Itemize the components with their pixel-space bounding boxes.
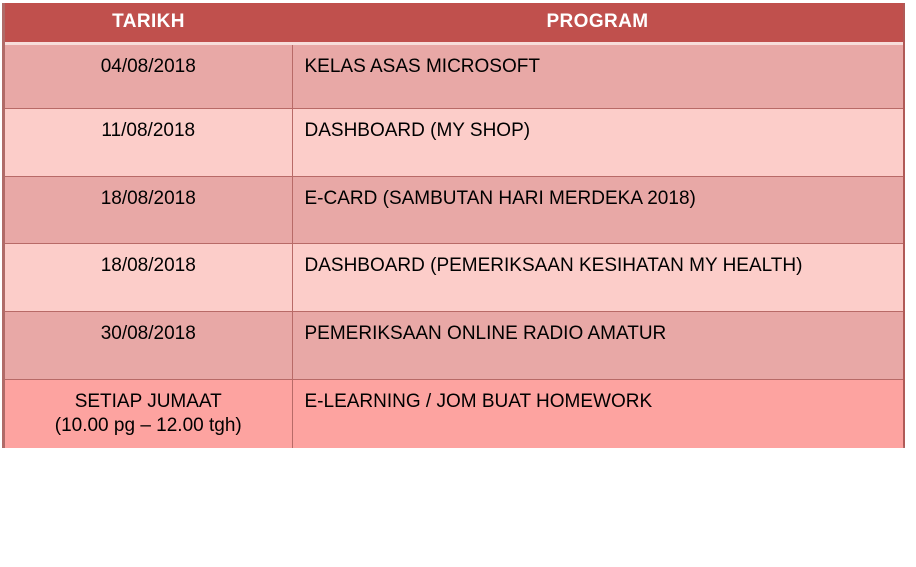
cell-program: E-CARD (SAMBUTAN HARI MERDEKA 2018) [292,176,903,243]
table-row: 18/08/2018 DASHBOARD (PEMERIKSAAN KESIHA… [5,243,903,311]
table-header-row: TARIKH PROGRAM [5,3,903,43]
program-schedule-table: TARIKH PROGRAM 04/08/2018 KELAS ASAS MIC… [5,3,903,448]
cell-tarikh: 30/08/2018 [5,311,292,379]
date-text: 18/08/2018 [5,188,292,210]
date-text: 30/08/2018 [5,323,292,345]
cell-program: PEMERIKSAAN ONLINE RADIO AMATUR [292,311,903,379]
table-row: 04/08/2018 KELAS ASAS MICROSOFT [5,43,903,108]
column-header-program: PROGRAM [292,3,903,43]
cell-tarikh: 18/08/2018 [5,176,292,243]
table-row: 11/08/2018 DASHBOARD (MY SHOP) [5,108,903,176]
cell-program: DASHBOARD (MY SHOP) [292,108,903,176]
schedule-table-container: TARIKH PROGRAM 04/08/2018 KELAS ASAS MIC… [2,3,905,448]
cell-program: E-LEARNING / JOM BUAT HOMEWORK [292,379,903,448]
cell-program: KELAS ASAS MICROSOFT [292,43,903,108]
cell-program: DASHBOARD (PEMERIKSAAN KESIHATAN MY HEAL… [292,243,903,311]
table-row: 18/08/2018 E-CARD (SAMBUTAN HARI MERDEKA… [5,176,903,243]
column-header-tarikh: TARIKH [5,3,292,43]
table-header: TARIKH PROGRAM [5,3,903,43]
table-row: 30/08/2018 PEMERIKSAAN ONLINE RADIO AMAT… [5,311,903,379]
date-text: 04/08/2018 [5,56,292,78]
cell-tarikh: 11/08/2018 [5,108,292,176]
date-text: 18/08/2018 [5,255,292,277]
table-body: 04/08/2018 KELAS ASAS MICROSOFT 11/08/20… [5,43,903,448]
date-text: SETIAP JUMAAT [5,391,292,413]
date-text: 11/08/2018 [5,120,292,142]
cell-tarikh: 04/08/2018 [5,43,292,108]
date-time-range-text: (10.00 pg – 12.00 tgh) [5,415,292,437]
cell-tarikh: SETIAP JUMAAT (10.00 pg – 12.00 tgh) [5,379,292,448]
cell-tarikh: 18/08/2018 [5,243,292,311]
table-row: SETIAP JUMAAT (10.00 pg – 12.00 tgh) E-L… [5,379,903,448]
